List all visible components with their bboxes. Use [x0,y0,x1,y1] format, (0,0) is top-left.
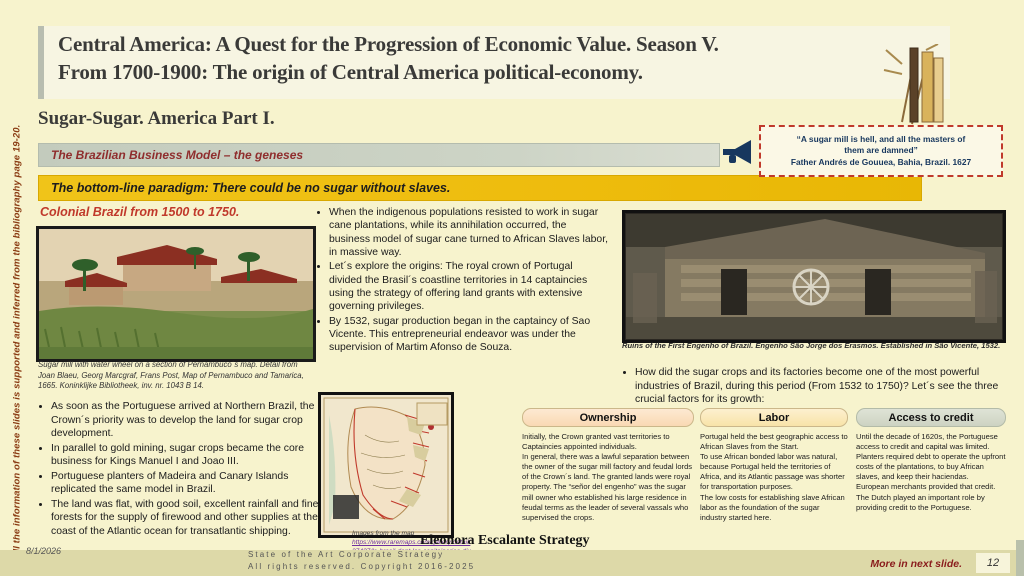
factor-column-ownership: Ownership Initially, the Crown granted v… [522,408,694,523]
footer-more-next-slide: More in next slide. [870,558,962,570]
list-item: By 1532, sugar production began in the c… [329,315,608,355]
list-item: How did the sugar crops and its factorie… [635,366,1008,407]
factor-body-labor: Portugal held the best geographic access… [700,432,848,523]
quote-attribution: Father Andrés de Gouuea, Bahia, Brazil. … [785,157,977,168]
list-item: Let´s explore the origins: The royal cro… [329,260,608,313]
factor-body-ownership: Initially, the Crown granted vast territ… [522,432,694,523]
left-section-heading: Colonial Brazil from 1500 to 1750. [40,205,239,219]
slide-page-number: 12 [976,553,1010,573]
factor-title-ownership: Ownership [522,408,694,427]
engenho-ruins-image [622,210,1006,343]
topic-bar-label: The Brazilian Business Model – the genes… [39,148,303,162]
footer-right-rail [1016,540,1024,576]
left-image-caption: Sugar mill with water wheel on a section… [38,360,316,392]
footer-brand: Eleonora Escalante Strategy [420,533,590,549]
middle-bullet-list: When the indigenous populations resisted… [316,206,608,355]
quote-callout: “A sugar mill is hell, and all the maste… [759,125,1003,177]
factor-title-access-to-credit: Access to credit [856,408,1006,427]
quote-line-1: “A sugar mill is hell, and all the maste… [791,134,972,145]
section-subtitle: Sugar-Sugar. America Part I. [38,108,275,130]
paradigm-bar-label: The bottom-line paradigm: There could be… [39,181,450,195]
list-item: When the indigenous populations resisted… [329,206,608,259]
megaphone-icon [721,138,757,166]
factor-title-labor: Labor [700,408,848,427]
sugar-mill-map-image [36,226,316,362]
left-bullet-list: As soon as the Portuguese arrived at Nor… [38,400,320,539]
sugar-cane-icon [882,44,952,126]
paradigm-bar: The bottom-line paradigm: There could be… [38,175,922,201]
list-item: As soon as the Portuguese arrived at Nor… [51,400,320,441]
brazil-captaincies-map-image [318,392,454,538]
factor-body-access-to-credit: Until the decade of 1620s, the Portugues… [856,432,1006,513]
page-title-line-1: Central America: A Quest for the Progres… [44,26,950,57]
page-title-line-2: From 1700-1900: The origin of Central Am… [44,57,950,85]
footer-date: 8/1/2026 [26,546,61,556]
list-item: The land was flat, with good soil, excel… [51,498,320,539]
list-item: Portuguese planters of Madeira and Canar… [51,470,320,497]
slide-canvas: All the information of these slides is s… [0,0,1024,576]
factor-column-labor: Labor Portugal held the best geographic … [700,408,848,523]
topic-bar-geneses: The Brazilian Business Model – the genes… [38,143,720,167]
right-question-block: How did the sugar crops and its factorie… [622,366,1008,407]
bibliography-side-note: All the information of these slides is s… [12,89,23,559]
footer-tagline: State of the Art Corporate Strategy [248,550,444,559]
factor-column-access-to-credit: Access to credit Until the decade of 162… [856,408,1006,513]
right-image-caption: Ruins of the First Engenho of Brazil. En… [622,341,1004,351]
list-item: In parallel to gold mining, sugar crops … [51,442,320,469]
quote-line-2: them are damned” [838,145,924,156]
title-band: Central America: A Quest for the Progres… [38,26,950,99]
footer-copyright: All rights reserved. Copyright 2016-2025 [248,562,475,571]
